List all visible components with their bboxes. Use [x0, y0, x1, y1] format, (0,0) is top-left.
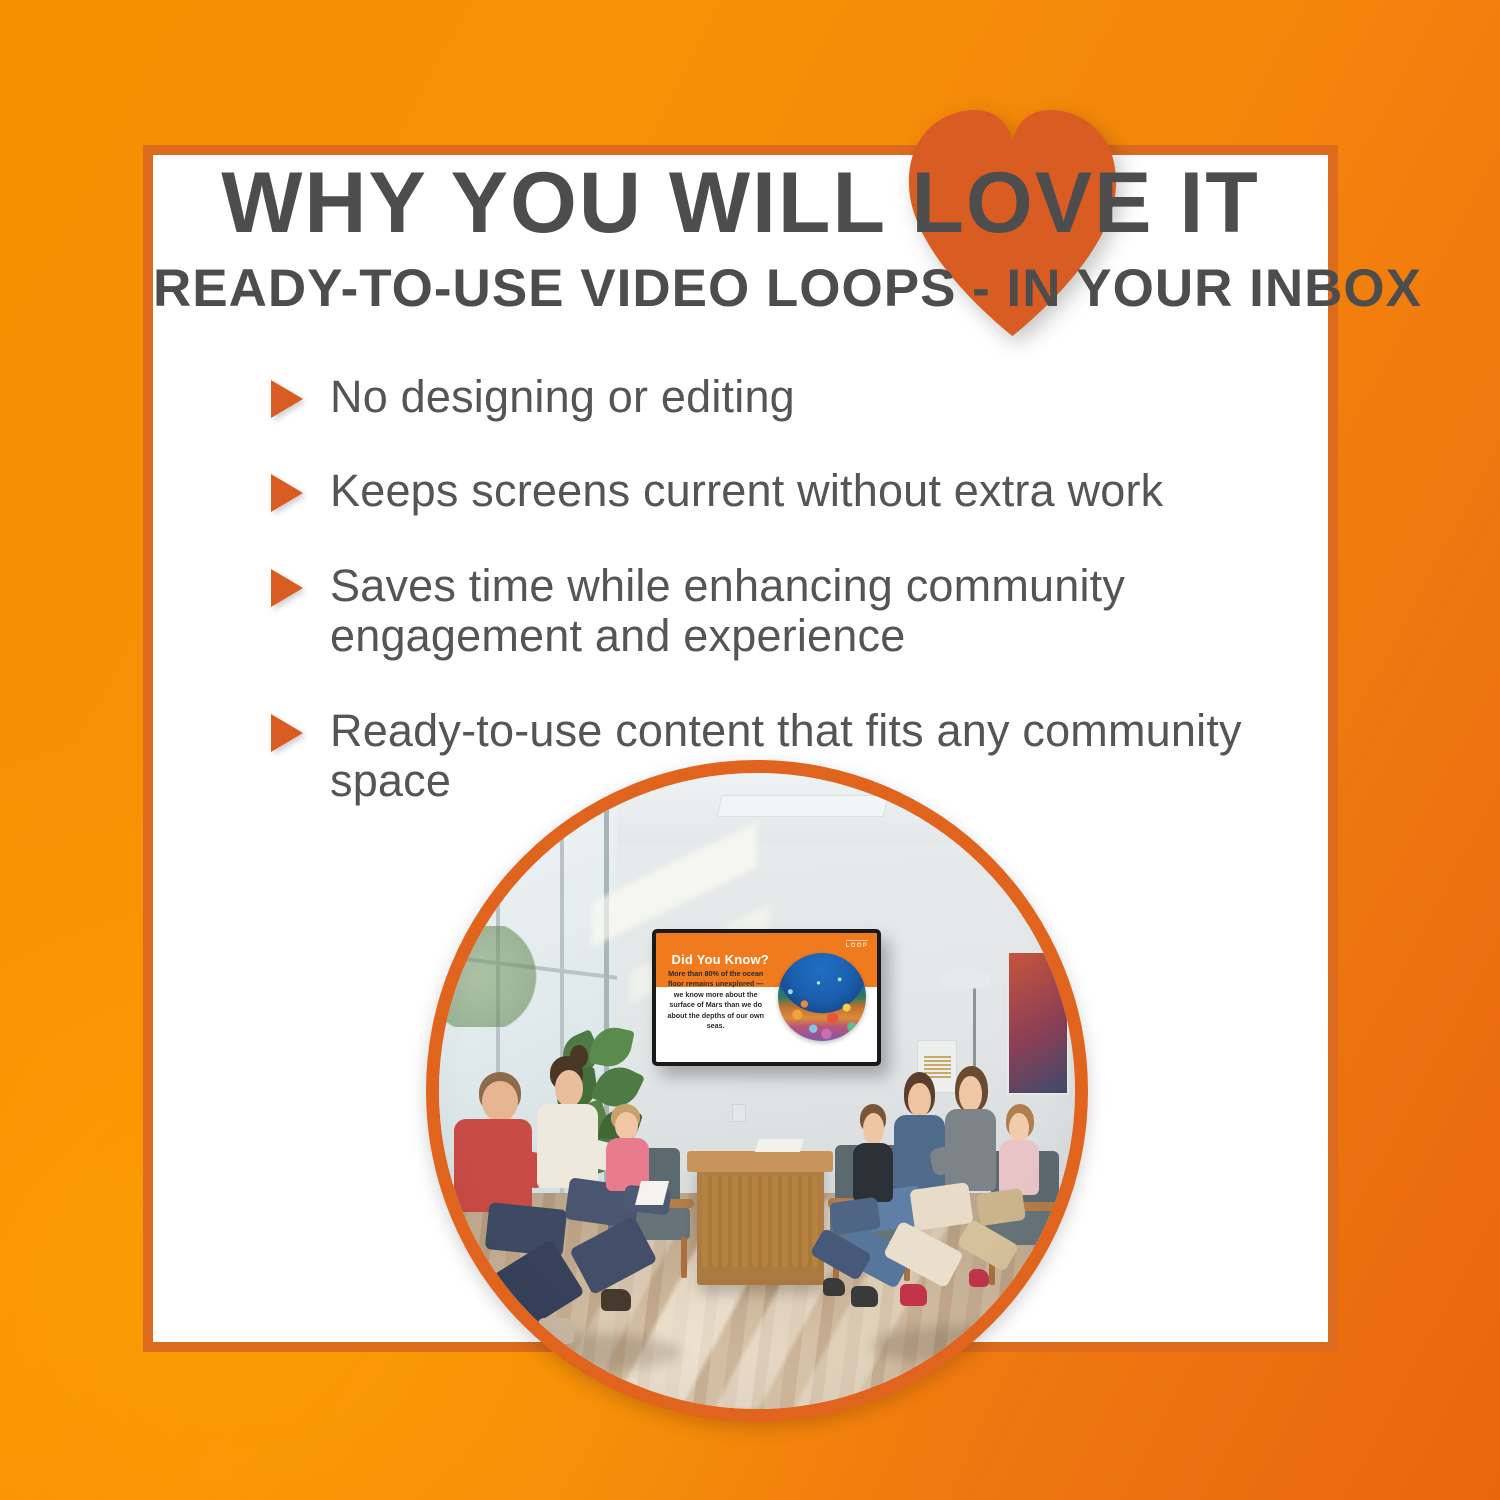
person-child-left: [592, 1104, 681, 1308]
photo-circle-ring: Did You Know? LOOP More than 80% of the …: [426, 760, 1088, 1422]
side-table: [697, 1158, 824, 1285]
list-item: Keeps screens current without extra work: [268, 466, 1328, 516]
play-triangle-icon: [268, 712, 306, 754]
list-item: Saves time while enhancing community eng…: [268, 561, 1328, 662]
loop-logo: LOOP: [846, 940, 869, 950]
play-triangle-icon: [268, 567, 306, 609]
screen-body-text: More than 80% of the ocean floor remains…: [665, 969, 767, 1032]
screen-headline: Did You Know?: [656, 952, 769, 967]
list-item-label: Keeps screens current without extra work: [330, 466, 1163, 516]
list-item-label: No designing or editing: [330, 372, 795, 422]
play-triangle-icon: [268, 472, 306, 514]
waiting-room-photo: Did You Know? LOOP More than 80% of the …: [439, 773, 1075, 1409]
poster-canvas: WHY YOU WILL LOVE IT READY-TO-USE VIDEO …: [0, 0, 1500, 1500]
list-item-label: Saves time while enhancing community eng…: [330, 561, 1328, 662]
person-child-right-2: [986, 1104, 1069, 1333]
person-child-right: [840, 1104, 923, 1333]
benefits-list: No designing or editing Keeps screens cu…: [268, 372, 1328, 806]
coral-reef-photo: [778, 953, 866, 1041]
list-item: No designing or editing: [268, 372, 1328, 422]
play-triangle-icon: [268, 378, 306, 420]
digital-signage-screen: Did You Know? LOOP More than 80% of the …: [652, 929, 881, 1066]
